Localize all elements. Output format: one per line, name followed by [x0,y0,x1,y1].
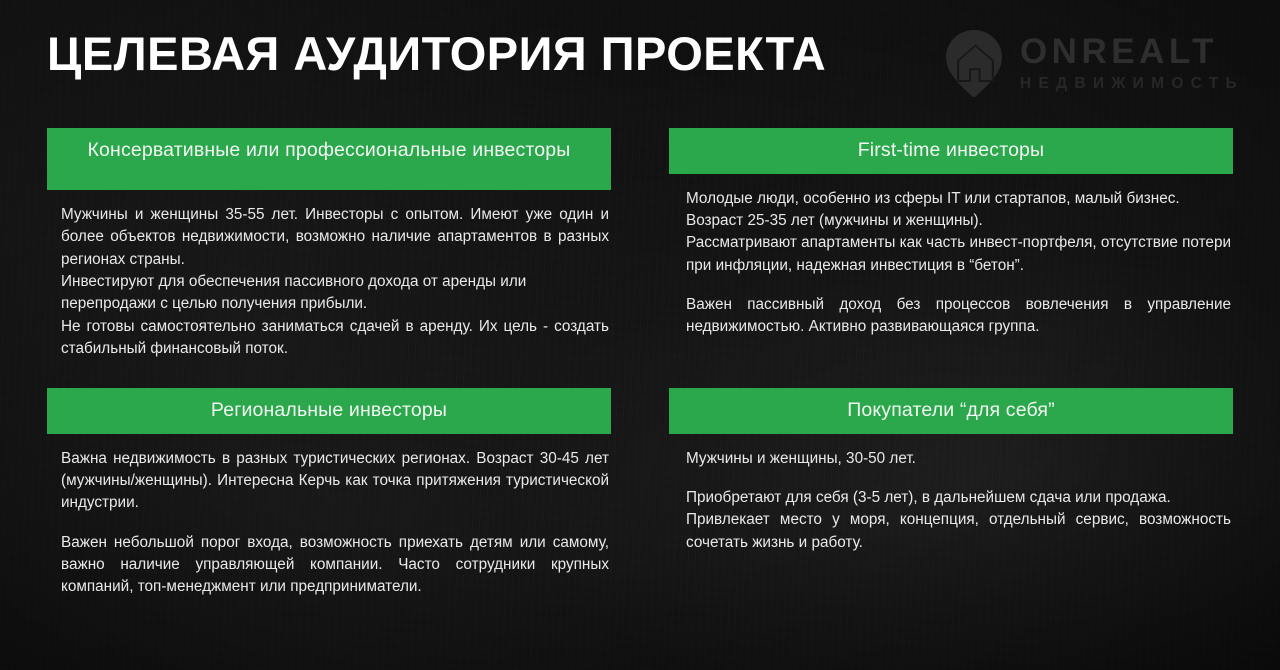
audience-card-buyers-for-themselves: Покупатели “для себя” Мужчины и женщины,… [669,388,1233,554]
card-paragraph: Важен пассивный доход без процессов вовл… [686,294,1231,339]
paragraph-spacer [61,515,609,532]
page-title: ЦЕЛЕВАЯ АУДИТОРИЯ ПРОЕКТА [47,29,826,78]
card-header: Покупатели “для себя” [669,388,1233,434]
brand-text: ONREALT НЕДВИЖИМОСТЬ [1020,34,1244,92]
card-header: Региональные инвесторы [47,388,611,434]
card-paragraph: Молодые люди, особенно из сферы IT или с… [686,188,1231,233]
card-paragraph: Не готовы самостоятельно заниматься сдач… [61,316,609,361]
card-header: First-time инвесторы [669,128,1233,174]
audience-card-regional-investors: Региональные инвесторы Важна недвижимост… [47,388,611,599]
card-paragraph: Привлекает место у моря, концепция, отде… [686,509,1231,554]
card-paragraph: Важен небольшой порог входа, возможность… [61,532,609,599]
audience-card-conservative-investors: Консервативные или профессиональные инве… [47,128,611,360]
card-body: Мужчины и женщины 35-55 лет. Инвесторы с… [47,190,611,360]
card-paragraph: Инвестируют для обеспечения пассивного д… [61,271,609,316]
card-body: Важна недвижимость в разных туристически… [47,434,611,599]
brand-logo: ONREALT НЕДВИЖИМОСТЬ [942,28,1244,98]
brand-subtitle: НЕДВИЖИМОСТЬ [1020,76,1244,92]
map-pin-house-icon [942,28,1006,98]
slide-content: ЦЕЛЕВАЯ АУДИТОРИЯ ПРОЕКТА ONREALT НЕДВИЖ… [0,0,1280,670]
card-body: Молодые люди, особенно из сферы IT или с… [669,174,1233,339]
presentation-slide: ЦЕЛЕВАЯ АУДИТОРИЯ ПРОЕКТА ONREALT НЕДВИЖ… [0,0,1280,670]
card-paragraph: Приобретают для себя (3-5 лет), в дальне… [686,487,1231,509]
card-paragraph: Рассматривают апартаменты как часть инве… [686,232,1231,277]
paragraph-spacer [686,277,1231,294]
card-paragraph: Мужчины и женщины 35-55 лет. Инвесторы с… [61,204,609,271]
card-header: Консервативные или профессиональные инве… [47,128,611,190]
brand-name: ONREALT [1020,34,1244,69]
card-paragraph: Важна недвижимость в разных туристически… [61,448,609,515]
card-paragraph: Мужчины и женщины, 30-50 лет. [686,448,1231,470]
audience-card-first-time-investors: First-time инвесторы Молодые люди, особе… [669,128,1233,339]
card-body: Мужчины и женщины, 30-50 лет. Приобретаю… [669,434,1233,554]
paragraph-spacer [686,470,1231,487]
